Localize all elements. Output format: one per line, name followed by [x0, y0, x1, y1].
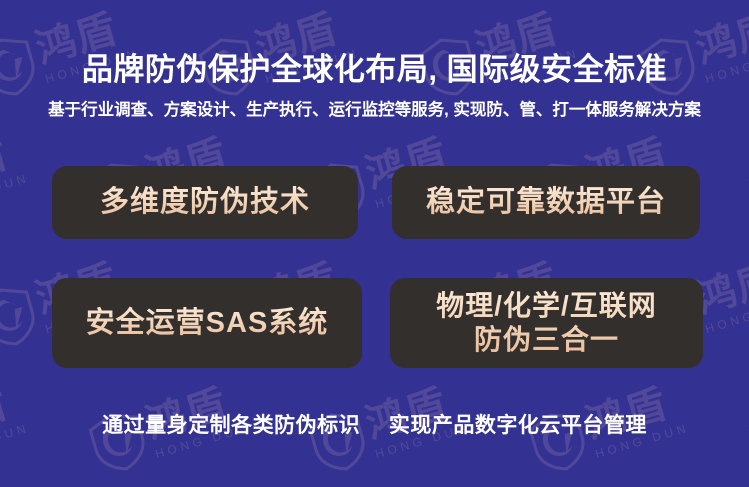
page-subtitle: 基于行业调查、方案设计、生产执行、运行监控等服务, 实现防、管、打一体服务解决方…	[0, 96, 749, 120]
feature-card-label: 稳定可靠数据平台	[426, 185, 666, 219]
feature-card-multidimensional[interactable]: 多维度防伪技术	[52, 166, 358, 239]
feature-card-label: 安全运营SAS系统	[86, 306, 329, 340]
page-title: 品牌防伪保护全球化布局, 国际级安全标准	[0, 44, 749, 89]
footer-caption-left: 通过量身定制各类防伪标识	[102, 414, 360, 437]
feature-card-label: 物理/化学/互联网 防伪三合一	[436, 289, 657, 357]
footer-caption: 通过量身定制各类防伪标识 实现产品数字化云平台管理	[0, 409, 749, 439]
footer-caption-right: 实现产品数字化云平台管理	[389, 414, 647, 437]
promo-poster: 鸿盾HONG DUN鸿盾HONG DUN鸿盾HONG DUN鸿盾HONG DUN…	[0, 0, 749, 487]
feature-card-data-platform[interactable]: 稳定可靠数据平台	[392, 166, 700, 239]
feature-card-three-in-one[interactable]: 物理/化学/互联网 防伪三合一	[390, 278, 703, 368]
feature-card-label: 多维度防伪技术	[100, 185, 310, 219]
poster-content: 品牌防伪保护全球化布局, 国际级安全标准 基于行业调查、方案设计、生产执行、运行…	[0, 0, 749, 487]
feature-card-sas-system[interactable]: 安全运营SAS系统	[52, 278, 362, 368]
